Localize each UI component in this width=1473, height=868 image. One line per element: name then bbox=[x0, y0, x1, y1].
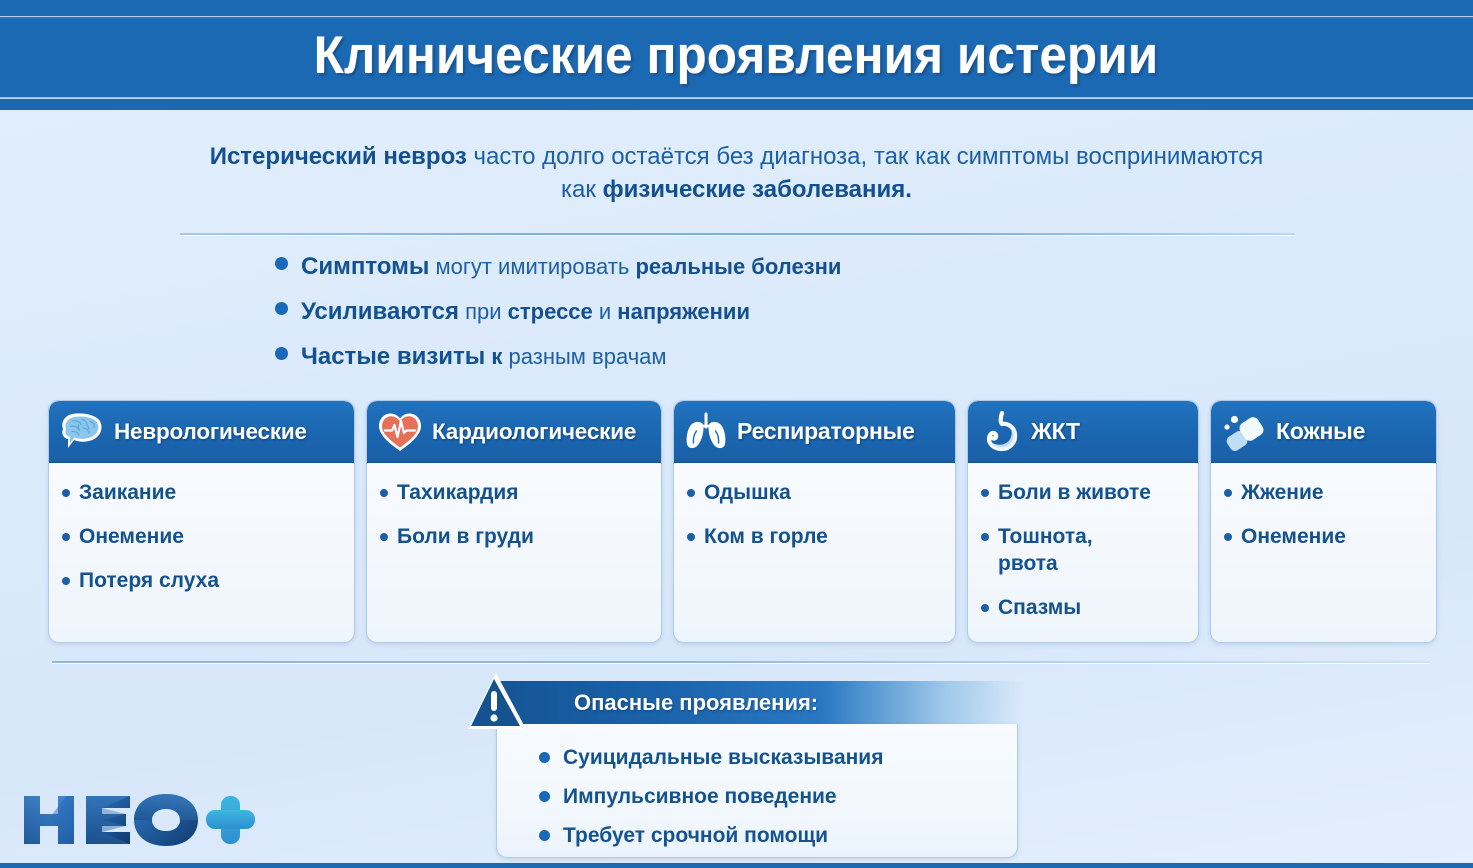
card-item-label: Одышка bbox=[704, 479, 791, 506]
list-item: Заикание bbox=[62, 479, 341, 506]
keypoint-tail: и bbox=[593, 299, 618, 324]
list-item: Требует срочной помощи bbox=[539, 816, 1017, 855]
keypoint-tail: разным врачам bbox=[502, 344, 666, 369]
card-item-label: Ком в горле bbox=[704, 523, 828, 550]
bullet-dot-icon bbox=[981, 533, 989, 541]
danger-header: Опасные проявления: bbox=[496, 681, 1023, 725]
danger-items-list: Суицидальные высказывания Импульсивное п… bbox=[496, 724, 1018, 858]
bullet-dot-icon bbox=[275, 302, 288, 315]
list-item: Одышка bbox=[687, 479, 942, 506]
card-body: Тахикардия Боли в груди bbox=[367, 463, 661, 577]
card-item-label: Жжение bbox=[1241, 479, 1324, 506]
bullet-dot-icon bbox=[1224, 533, 1232, 541]
page-header: Клинические проявления истерии bbox=[0, 0, 1473, 110]
list-item: Тошнота, рвота bbox=[981, 523, 1185, 577]
keypoint-bold-tail: реальные болезни bbox=[635, 254, 841, 279]
list-item: Тахикардия bbox=[380, 479, 648, 506]
bullet-dot-icon bbox=[539, 752, 550, 763]
list-item: Ком в горле bbox=[687, 523, 942, 550]
danger-signs-panel: Опасные проявления: Суицидальные высказы… bbox=[463, 681, 1023, 868]
keypoint-mid: могут имитировать bbox=[429, 254, 635, 279]
card-cardiological[interactable]: Кардиологические Тахикардия Боли в груди bbox=[366, 400, 662, 643]
intro-line2-bold: физические заболевания. bbox=[603, 176, 912, 203]
page-title: Клинические проявления истерии bbox=[314, 25, 1159, 86]
card-header: ЖКТ bbox=[968, 401, 1198, 463]
bullet-dot-icon bbox=[687, 533, 695, 541]
danger-title: Опасные проявления: bbox=[574, 690, 818, 716]
card-item-label: Потеря слуха bbox=[79, 567, 219, 594]
card-item-label: Онемение bbox=[79, 523, 184, 550]
card-body: Боли в животе Тошнота, рвота Спазмы bbox=[968, 463, 1198, 643]
card-item-label: Тахикардия bbox=[397, 479, 519, 506]
card-title: Неврологические bbox=[114, 419, 307, 445]
bullet-dot-icon bbox=[275, 347, 288, 360]
card-item-label: Тошнота, рвота bbox=[998, 523, 1093, 577]
divider-below-cards bbox=[52, 661, 1430, 663]
bullet-dot-icon bbox=[539, 791, 550, 802]
keypoints-list: Симптомы могут имитировать реальные боле… bbox=[275, 253, 1075, 388]
intro-bold-lead: Истерический невроз bbox=[210, 143, 467, 170]
list-item: Боли в животе bbox=[981, 479, 1185, 506]
keypoint-bold-tail: стрессе bbox=[508, 299, 593, 324]
intro-line2-prefix: как bbox=[561, 176, 603, 203]
card-neurological[interactable]: Неврологические Заикание Онемение Потеря… bbox=[48, 400, 355, 643]
card-title: Кардиологические bbox=[432, 419, 636, 445]
card-item-label: Боли в животе bbox=[998, 479, 1151, 506]
keypoint-mid: при bbox=[459, 299, 508, 324]
list-item: Онемение bbox=[62, 523, 341, 550]
warning-triangle-icon bbox=[463, 669, 539, 737]
danger-item-label: Импульсивное поведение bbox=[563, 785, 837, 809]
bullet-dot-icon bbox=[1224, 489, 1232, 497]
list-item: Жжение bbox=[1224, 479, 1423, 506]
list-item: Симптомы могут имитировать реальные боле… bbox=[275, 253, 1075, 298]
card-item-label: Заикание bbox=[79, 479, 176, 506]
list-item: Частые визиты к разным врачам bbox=[275, 343, 1075, 388]
bullet-dot-icon bbox=[687, 489, 695, 497]
bullet-dot-icon bbox=[62, 489, 70, 497]
keypoint-lead: Симптомы bbox=[301, 253, 429, 280]
card-title: Кожные bbox=[1276, 418, 1365, 445]
symptom-cards-row: Неврологические Заикание Онемение Потеря… bbox=[48, 400, 1433, 643]
card-item-label: Спазмы bbox=[998, 594, 1081, 621]
card-header: Кардиологические bbox=[367, 401, 661, 463]
card-title: ЖКТ bbox=[1031, 418, 1080, 445]
bullet-dot-icon bbox=[380, 489, 388, 497]
danger-item-label: Требует срочной помощи bbox=[563, 824, 828, 848]
keypoint-lead: Усиливаются bbox=[301, 298, 459, 325]
list-item: Усиливаются при стрессе и напряжении bbox=[275, 298, 1075, 343]
bullet-dot-icon bbox=[62, 533, 70, 541]
heart-pulse-icon bbox=[377, 411, 423, 453]
list-item: Суицидальные высказывания bbox=[539, 738, 1017, 777]
keypoint-bold-tail: к bbox=[491, 344, 502, 369]
neo-plus-logo bbox=[18, 788, 263, 850]
stomach-icon bbox=[978, 411, 1022, 453]
brain-icon bbox=[59, 411, 105, 453]
intro-line1-rest: часто долго остаётся без диагноза, так к… bbox=[467, 143, 1263, 170]
card-respiratory[interactable]: Респираторные Одышка Ком в горле bbox=[673, 400, 956, 643]
card-skin[interactable]: Кожные Жжение Онемение bbox=[1210, 400, 1437, 643]
card-item-label: Боли в груди bbox=[397, 523, 534, 550]
bullet-dot-icon bbox=[539, 830, 550, 841]
card-body: Заикание Онемение Потеря слуха bbox=[49, 463, 354, 621]
bullet-dot-icon bbox=[62, 577, 70, 585]
bullet-dot-icon bbox=[981, 489, 989, 497]
bullet-dot-icon bbox=[275, 257, 288, 270]
danger-item-label: Суицидальные высказывания bbox=[563, 746, 883, 770]
bullet-dot-icon bbox=[380, 533, 388, 541]
card-header: Неврологические bbox=[49, 401, 354, 463]
keypoint-bold-tail-2: напряжении bbox=[617, 299, 750, 324]
card-body: Одышка Ком в горле bbox=[674, 463, 955, 577]
card-header: Респираторные bbox=[674, 401, 955, 463]
card-gastrointestinal[interactable]: ЖКТ Боли в животе Тошнота, рвота Спазмы bbox=[967, 400, 1199, 643]
intro-paragraph: Истерический невроз часто долго остаётся… bbox=[0, 140, 1473, 206]
card-body: Жжение Онемение bbox=[1211, 463, 1436, 577]
card-item-label: Онемение bbox=[1241, 523, 1346, 550]
skin-patch-icon bbox=[1221, 411, 1267, 453]
list-item: Потеря слуха bbox=[62, 567, 341, 594]
divider-above-keypoints bbox=[180, 233, 1295, 235]
list-item: Импульсивное поведение bbox=[539, 777, 1017, 816]
card-header: Кожные bbox=[1211, 401, 1436, 463]
lungs-icon bbox=[684, 411, 728, 453]
list-item: Онемение bbox=[1224, 523, 1423, 550]
list-item: Спазмы bbox=[981, 594, 1185, 621]
bullet-dot-icon bbox=[981, 604, 989, 612]
card-title: Респираторные bbox=[737, 418, 915, 445]
list-item: Боли в груди bbox=[380, 523, 648, 550]
keypoint-lead: Частые визиты bbox=[301, 343, 485, 370]
